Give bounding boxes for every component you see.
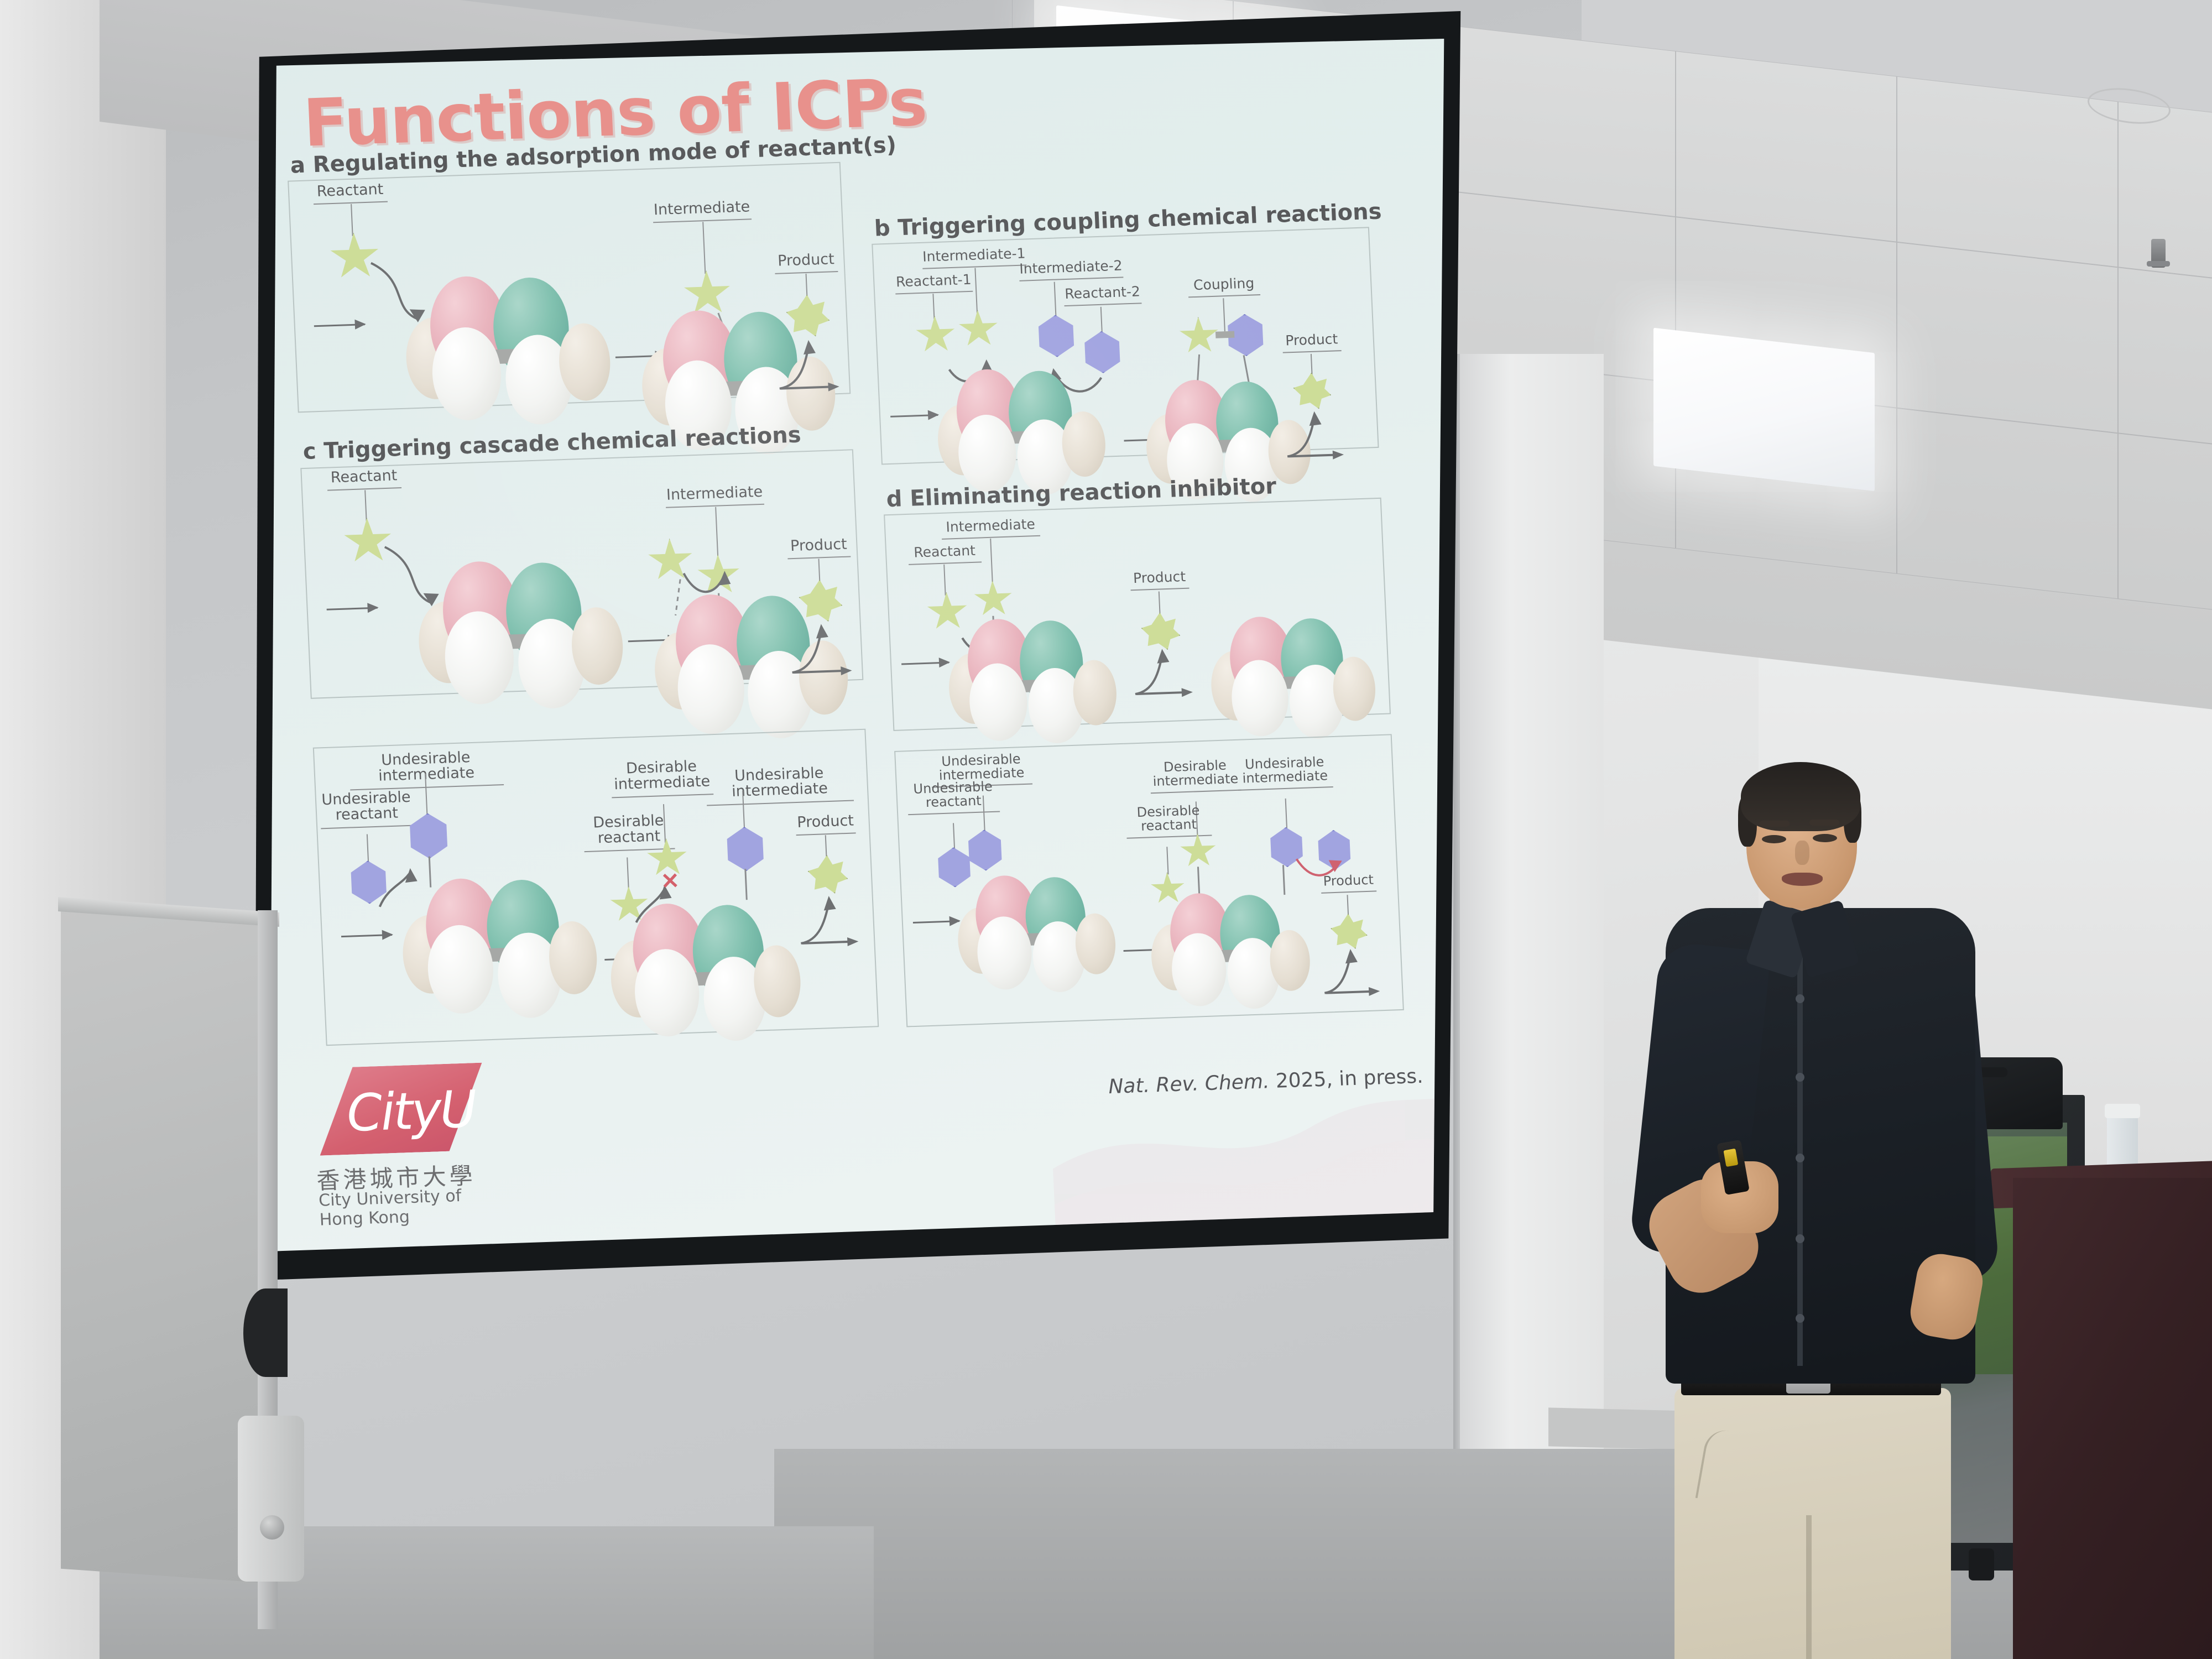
panel-a-label-product: Product xyxy=(768,252,844,270)
product-release-arrow-icon xyxy=(775,331,849,394)
panel-d-letter: d xyxy=(886,486,903,512)
whiteboard-height-knob[interactable] xyxy=(260,1515,284,1540)
shirt-button xyxy=(1796,1234,1804,1243)
presenter-trousers xyxy=(1674,1388,1951,1659)
br-product-release-arrow-icon xyxy=(1321,943,1389,999)
presenter-nose xyxy=(1795,841,1809,865)
panel-d-label-product: Product xyxy=(1124,569,1194,586)
product-release-arrow-icon-c xyxy=(787,615,862,678)
presenter-mouth xyxy=(1782,873,1823,886)
panel-a-label-reactant: Reactant xyxy=(305,181,394,200)
bl-label-undesirable-intermediate-2: Undesirable intermediate xyxy=(691,764,867,801)
presenter-eyebrow-left xyxy=(1760,821,1790,827)
bl-product-release-arrow-icon xyxy=(796,888,869,950)
water-bottle-cap xyxy=(2105,1104,2140,1118)
presentation-slide: Functions of ICPs a Regulating the adsor… xyxy=(269,39,1450,1264)
panel-b-label-product: Product xyxy=(1276,332,1347,349)
product-release-arrow-icon-b xyxy=(1283,404,1354,462)
panel-d-label-reactant: Reactant xyxy=(901,543,989,561)
shirt-button xyxy=(1796,1073,1804,1082)
panel-c-letter: c xyxy=(302,439,317,465)
blocked-x-icon: ✕ xyxy=(660,870,680,893)
br-label-desirable-reactant: Desirablereactant xyxy=(1117,803,1220,834)
screenshot-root: Functions of ICPs a Regulating the adsor… xyxy=(0,0,2212,1659)
panel-a-letter: a xyxy=(290,153,306,179)
lectern xyxy=(2013,1178,2212,1659)
presenter-eyebrow-right xyxy=(1809,820,1839,826)
bl-label-product: Product xyxy=(790,813,861,831)
bl-label-undesirable-reactant: Undesirablereactant xyxy=(310,789,422,824)
cityu-logo: CityU 香港城市大學 City University of Hong Kon… xyxy=(316,1062,511,1217)
presenter-hair xyxy=(1741,762,1860,831)
panel-b-label-reactant-2: Reactant-2 xyxy=(1056,284,1149,302)
product-release-arrow-icon-d xyxy=(1131,643,1203,701)
shirt-button xyxy=(1796,1154,1804,1162)
shirt-button xyxy=(1796,1314,1804,1323)
panel-c-label-product: Product xyxy=(781,536,857,555)
cityu-logo-english: City University of Hong Kong xyxy=(318,1185,511,1230)
projection-screen: Functions of ICPs a Regulating the adsor… xyxy=(269,39,1450,1264)
whiteboard-stand-foot[interactable] xyxy=(238,1416,304,1582)
sprinkler-head-icon xyxy=(2151,239,2166,268)
presenter-eye-left xyxy=(1762,835,1786,843)
ceiling-light-panel-right xyxy=(1653,328,1875,492)
panel-c-label-reactant: Reactant xyxy=(320,468,409,487)
panel-b-letter: b xyxy=(874,216,891,242)
panel-b-label-reactant-1: Reactant-1 xyxy=(888,272,980,290)
shirt-button xyxy=(1796,994,1804,1003)
panel-b-label-coupling: Coupling xyxy=(1181,276,1267,293)
presenter xyxy=(1604,763,1991,1659)
trouser-seam xyxy=(1806,1515,1812,1659)
br-label-undesirable-intermediate-2: Undesirableintermediate xyxy=(1228,755,1342,786)
bl-blocked-arrow-icon xyxy=(373,849,436,918)
whiteboard-eraser-holder xyxy=(243,1288,288,1377)
br-label-undesirable-reactant: Undesirablereactant xyxy=(898,779,1009,811)
room-pillar xyxy=(1460,354,1604,1571)
cityu-logo-text: CityU xyxy=(346,1079,477,1143)
presenter-eye-right xyxy=(1813,834,1837,842)
br-label-product: Product xyxy=(1315,873,1382,889)
